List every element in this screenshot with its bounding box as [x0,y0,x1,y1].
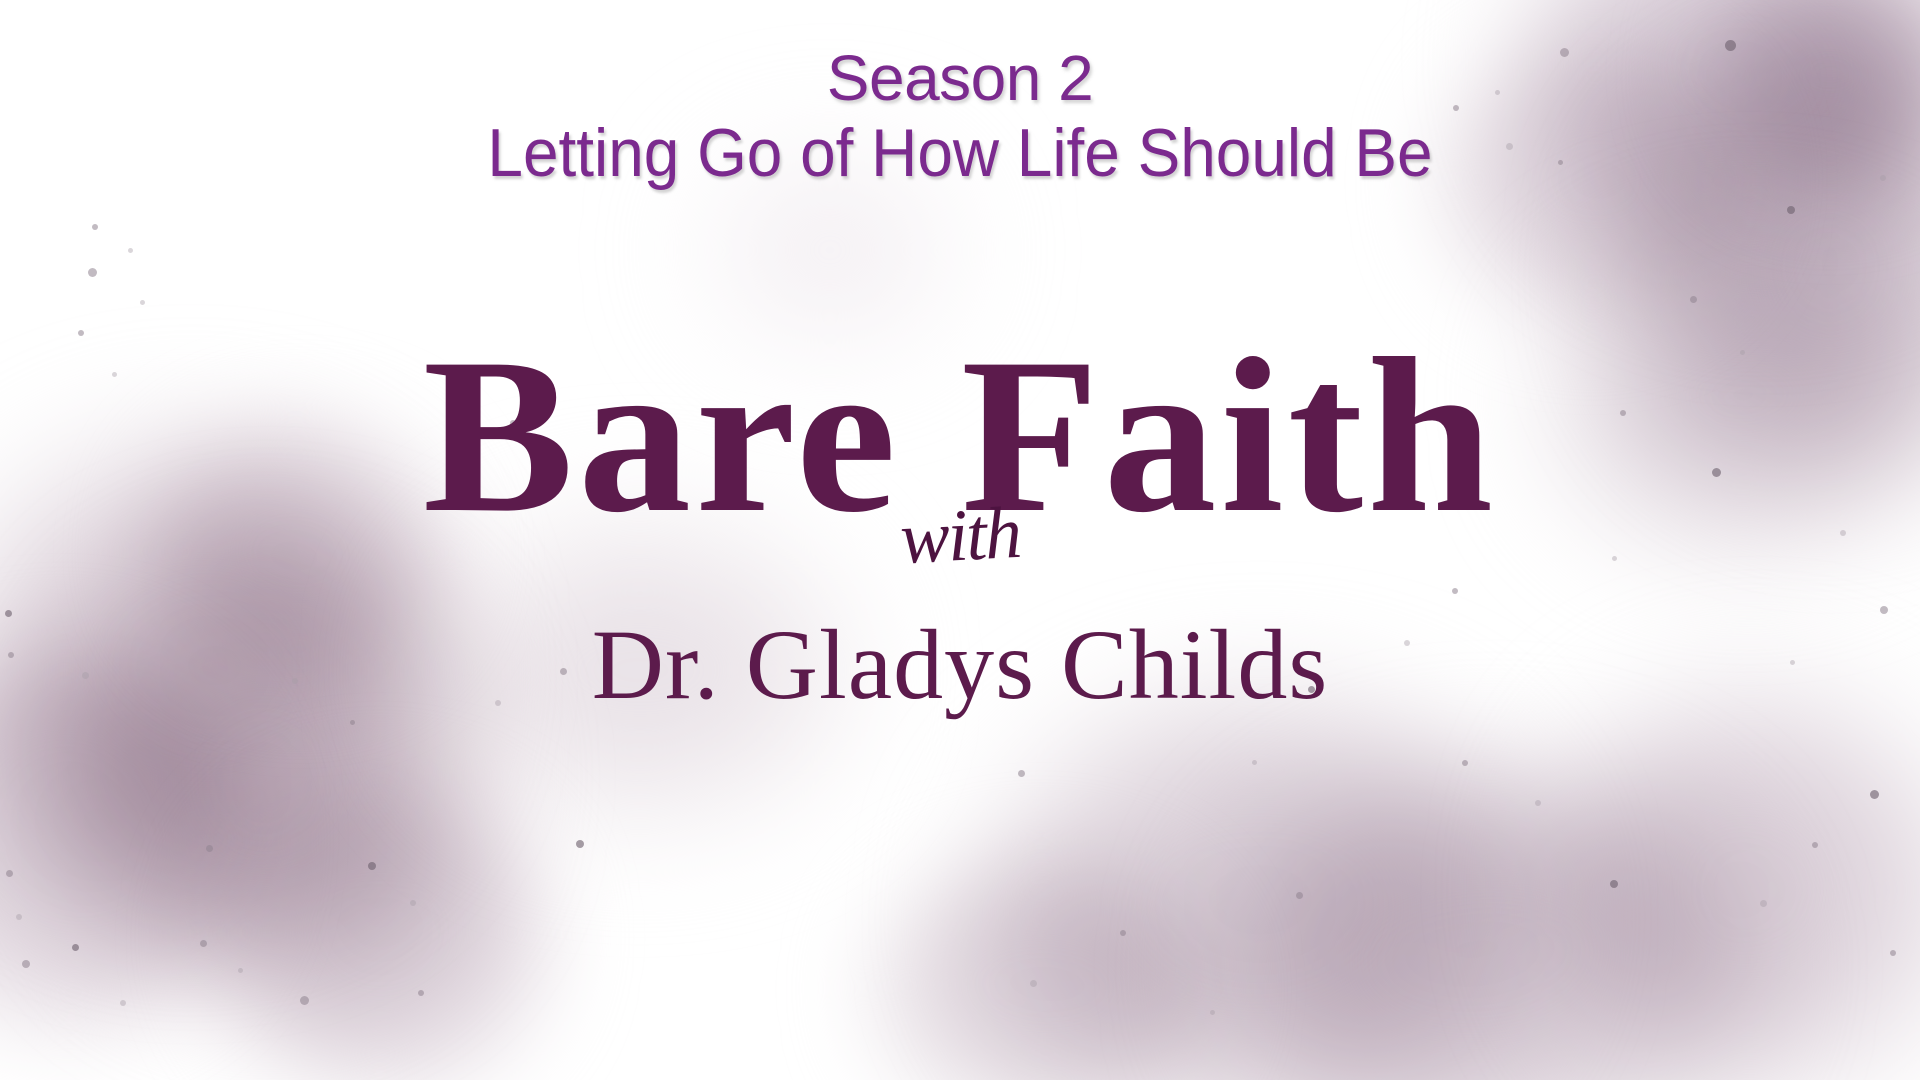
ink-speckle [1535,800,1541,806]
ink-speckle [410,900,416,906]
ink-speckle [1890,950,1896,956]
ink-speckle [300,996,309,1005]
watercolor-blob-bottom-3 [1560,690,1920,1080]
ink-speckle [576,840,584,848]
ink-speckle [6,870,13,877]
ink-speckle [120,1000,126,1006]
ink-speckle [1870,790,1879,799]
season-subtitle: Letting Go of How Life Should Be [58,110,1863,197]
ink-speckle [1812,842,1818,848]
watercolor-blob-left-5 [210,790,550,1080]
ink-speckle [206,845,213,852]
ink-speckle [1787,206,1795,214]
header-text-block: Season 2 Letting Go of How Life Should B… [0,46,1920,197]
ink-speckle [1120,930,1126,936]
ink-speckle [88,268,97,277]
season-label: Season 2 [0,46,1920,110]
ink-speckle [22,960,30,968]
podcast-cover-art: Season 2 Letting Go of How Life Should B… [0,0,1920,1080]
ink-speckle [238,968,243,973]
ink-speckle [1760,900,1767,907]
ink-speckle [1610,880,1618,888]
watercolor-blob-bottom-2 [1230,780,1750,1080]
ink-speckle [140,300,145,305]
ink-speckle [16,914,22,920]
podcast-logo: Bare Faith with Dr. Gladys Childs [0,330,1920,715]
ink-speckle [128,248,133,253]
ink-speckle [1690,296,1697,303]
watercolor-blob-bottom-4 [870,860,1210,1080]
ink-speckle [418,990,424,996]
ink-speckle [1462,760,1468,766]
ink-speckle [1296,892,1303,899]
ink-speckle [72,944,79,951]
ink-speckle [1252,760,1257,765]
ink-speckle [1018,770,1025,777]
ink-speckle [1030,980,1037,987]
with-script-label: with [898,496,1021,576]
ink-speckle [200,940,207,947]
podcast-host-name: Dr. Gladys Childs [0,615,1920,715]
ink-speckle [368,862,376,870]
ink-speckle [92,224,98,230]
ink-speckle [350,720,355,725]
ink-speckle [1210,1010,1215,1015]
watercolor-blob-bottom-1 [980,700,1540,1080]
